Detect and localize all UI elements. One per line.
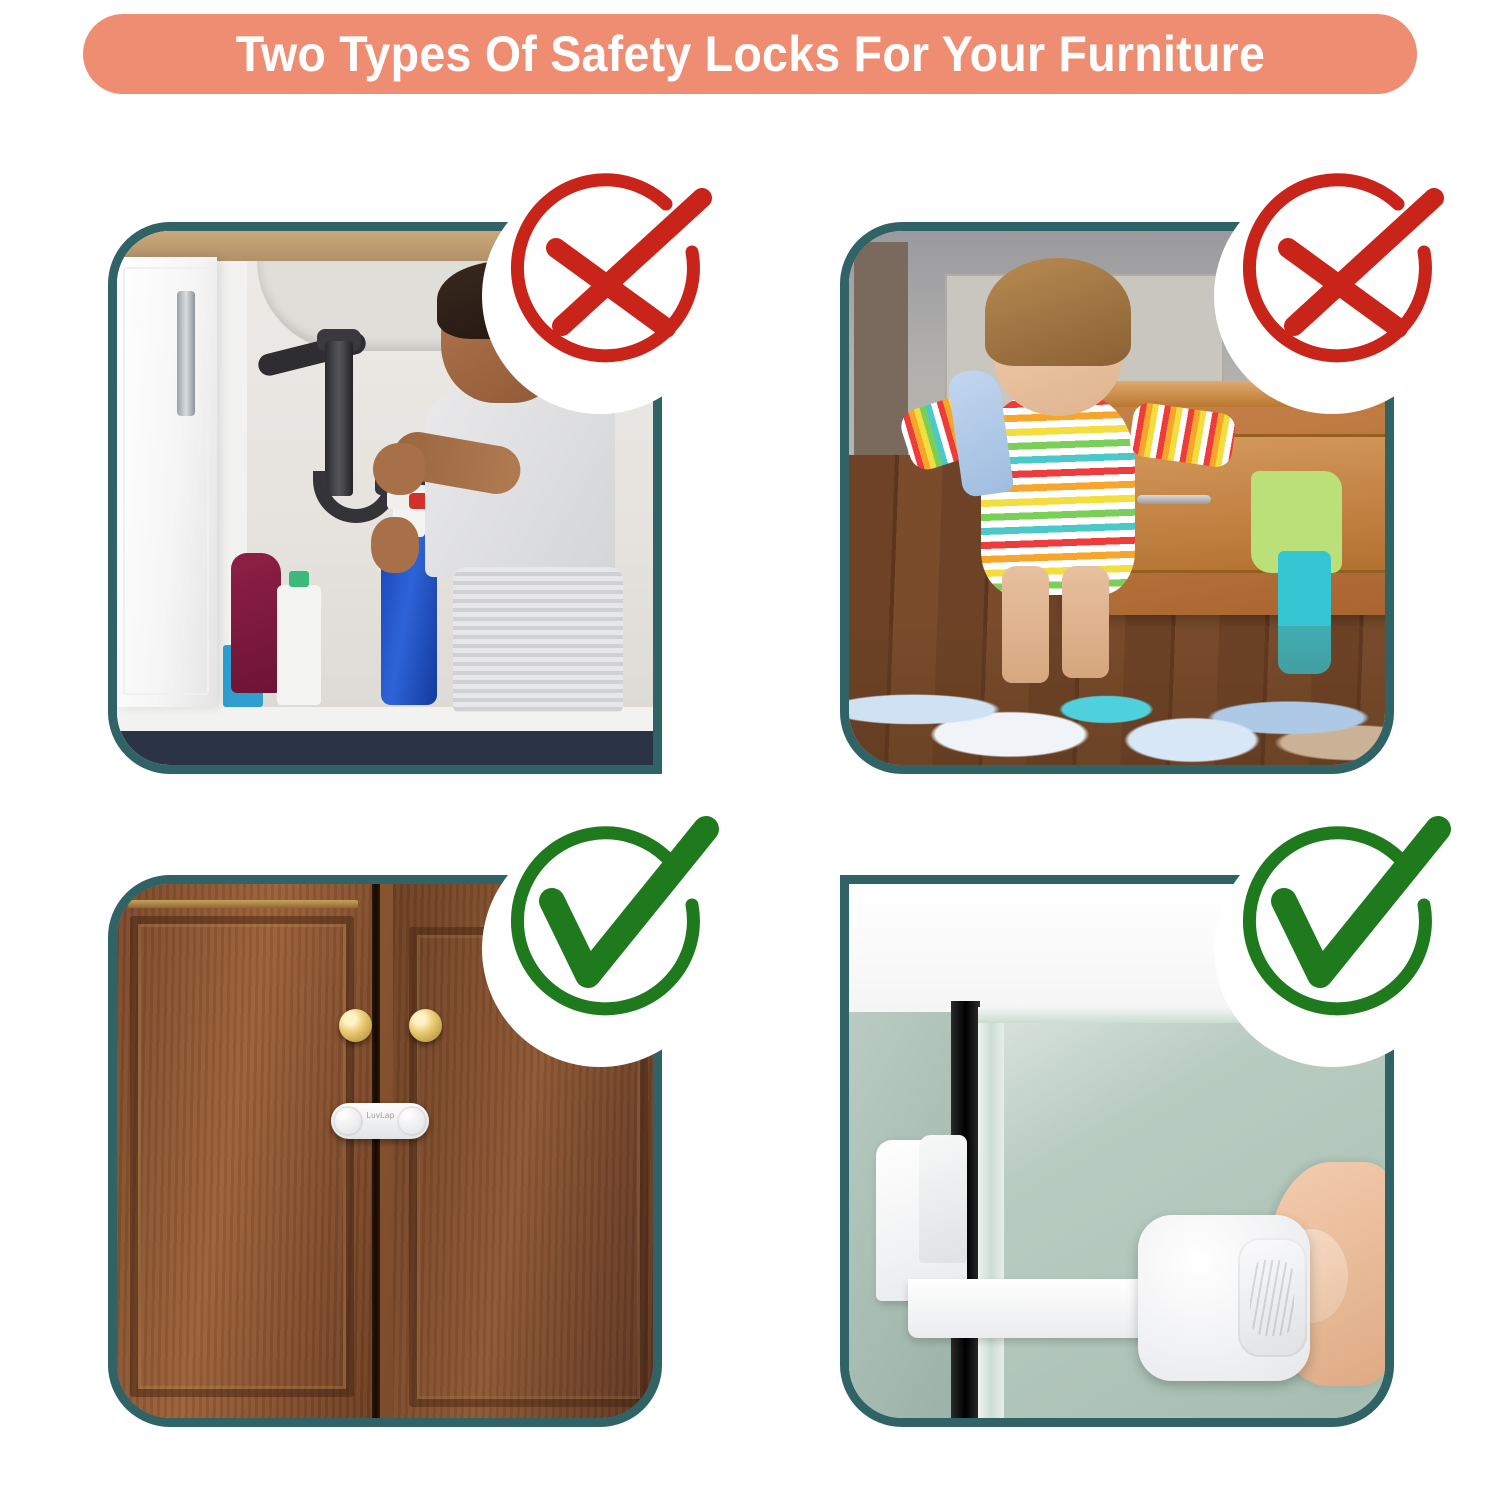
status-badge-bottom-right bbox=[1214, 831, 1450, 1067]
cabinet-door-gap bbox=[372, 884, 381, 1418]
check-icon bbox=[470, 809, 730, 1069]
strap-lock-anchor-secondary bbox=[919, 1135, 967, 1263]
safety-lock-brand-label: LuvLap bbox=[366, 1111, 394, 1120]
status-badge-top-right bbox=[1214, 178, 1450, 414]
toddler-pants bbox=[453, 567, 623, 712]
glass-edge-highlight bbox=[978, 1007, 1005, 1418]
cabinet-door-left-panel bbox=[130, 916, 354, 1397]
cabinet-door-left bbox=[117, 884, 374, 1418]
release-button-grip-ridges bbox=[1250, 1260, 1294, 1336]
status-badge-top-left bbox=[482, 178, 718, 414]
baby-leg-right bbox=[1062, 566, 1109, 678]
cabinet-top-molding bbox=[128, 900, 358, 908]
cabinet-door-open bbox=[117, 257, 217, 707]
safety-lock-device[interactable]: LuvLap bbox=[331, 1103, 429, 1139]
strap-lock-latch[interactable] bbox=[1138, 1215, 1310, 1381]
toddler-hand-lower bbox=[371, 517, 419, 573]
page-title: Two Types Of Safety Locks For Your Furni… bbox=[235, 25, 1264, 83]
cross-icon bbox=[470, 156, 730, 416]
cross-icon bbox=[1202, 156, 1462, 416]
baby-figure bbox=[951, 258, 1165, 675]
door-frame bbox=[854, 242, 908, 456]
rubber-glove bbox=[231, 553, 281, 693]
baby-hair bbox=[985, 258, 1131, 366]
strap-lock-release-button[interactable] bbox=[1238, 1238, 1307, 1357]
baby-leg-left bbox=[1002, 566, 1049, 683]
status-badge-bottom-left bbox=[482, 831, 718, 1067]
watermark-bar bbox=[117, 731, 653, 765]
toddler-hand-upper bbox=[373, 443, 425, 495]
header-banner: Two Types Of Safety Locks For Your Furni… bbox=[83, 14, 1417, 94]
infographic-page: Two Types Of Safety Locks For Your Furni… bbox=[0, 0, 1500, 1500]
white-cleaning-bottle bbox=[277, 585, 321, 705]
cabinet-door-inner-panel bbox=[123, 267, 209, 695]
cabinet-door-hinge bbox=[177, 291, 195, 416]
check-icon bbox=[1202, 809, 1462, 1069]
